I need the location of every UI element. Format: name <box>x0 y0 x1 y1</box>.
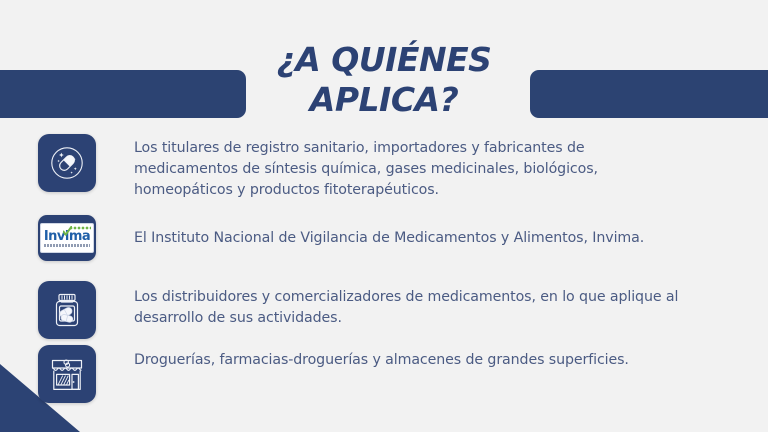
pill-circle-icon-container <box>38 134 96 192</box>
pill-bottle-icon <box>47 290 87 330</box>
list-item-text: Los titulares de registro sanitario, imp… <box>134 134 690 201</box>
page-title-line-1: ¿A QUIÉNES <box>184 40 584 80</box>
list-item-text: Droguerías, farmacias-droguerías y almac… <box>134 345 690 371</box>
slide-canvas: ¿A QUIÉNES APLICA? <box>0 0 768 432</box>
list-item: Los titulares de registro sanitario, imp… <box>38 134 690 201</box>
list-item: Droguerías, farmacias-droguerías y almac… <box>38 345 690 403</box>
list-item-text: Los distribuidores y comercializadores d… <box>134 281 690 329</box>
list-item: Invima El Instituto Nacional de Vigilanc… <box>38 215 690 261</box>
page-title-line-2: APLICA? <box>184 80 584 120</box>
invima-logo-dots <box>69 226 91 230</box>
invima-logo-icon: Invima <box>40 223 94 253</box>
list-item: Los distribuidores y comercializadores d… <box>38 281 690 339</box>
invima-logo-icon-container: Invima <box>38 215 96 261</box>
pill-circle-icon <box>47 143 87 183</box>
list-item-text: El Instituto Nacional de Vigilancia de M… <box>134 215 690 249</box>
pharmacy-storefront-icon-container <box>38 345 96 403</box>
invima-logo-wordmark: Invima <box>44 230 90 243</box>
pharmacy-storefront-icon <box>46 354 88 394</box>
pill-bottle-icon-container <box>38 281 96 339</box>
invima-logo-tagline <box>44 244 90 247</box>
page-title: ¿A QUIÉNES APLICA? <box>184 40 584 120</box>
